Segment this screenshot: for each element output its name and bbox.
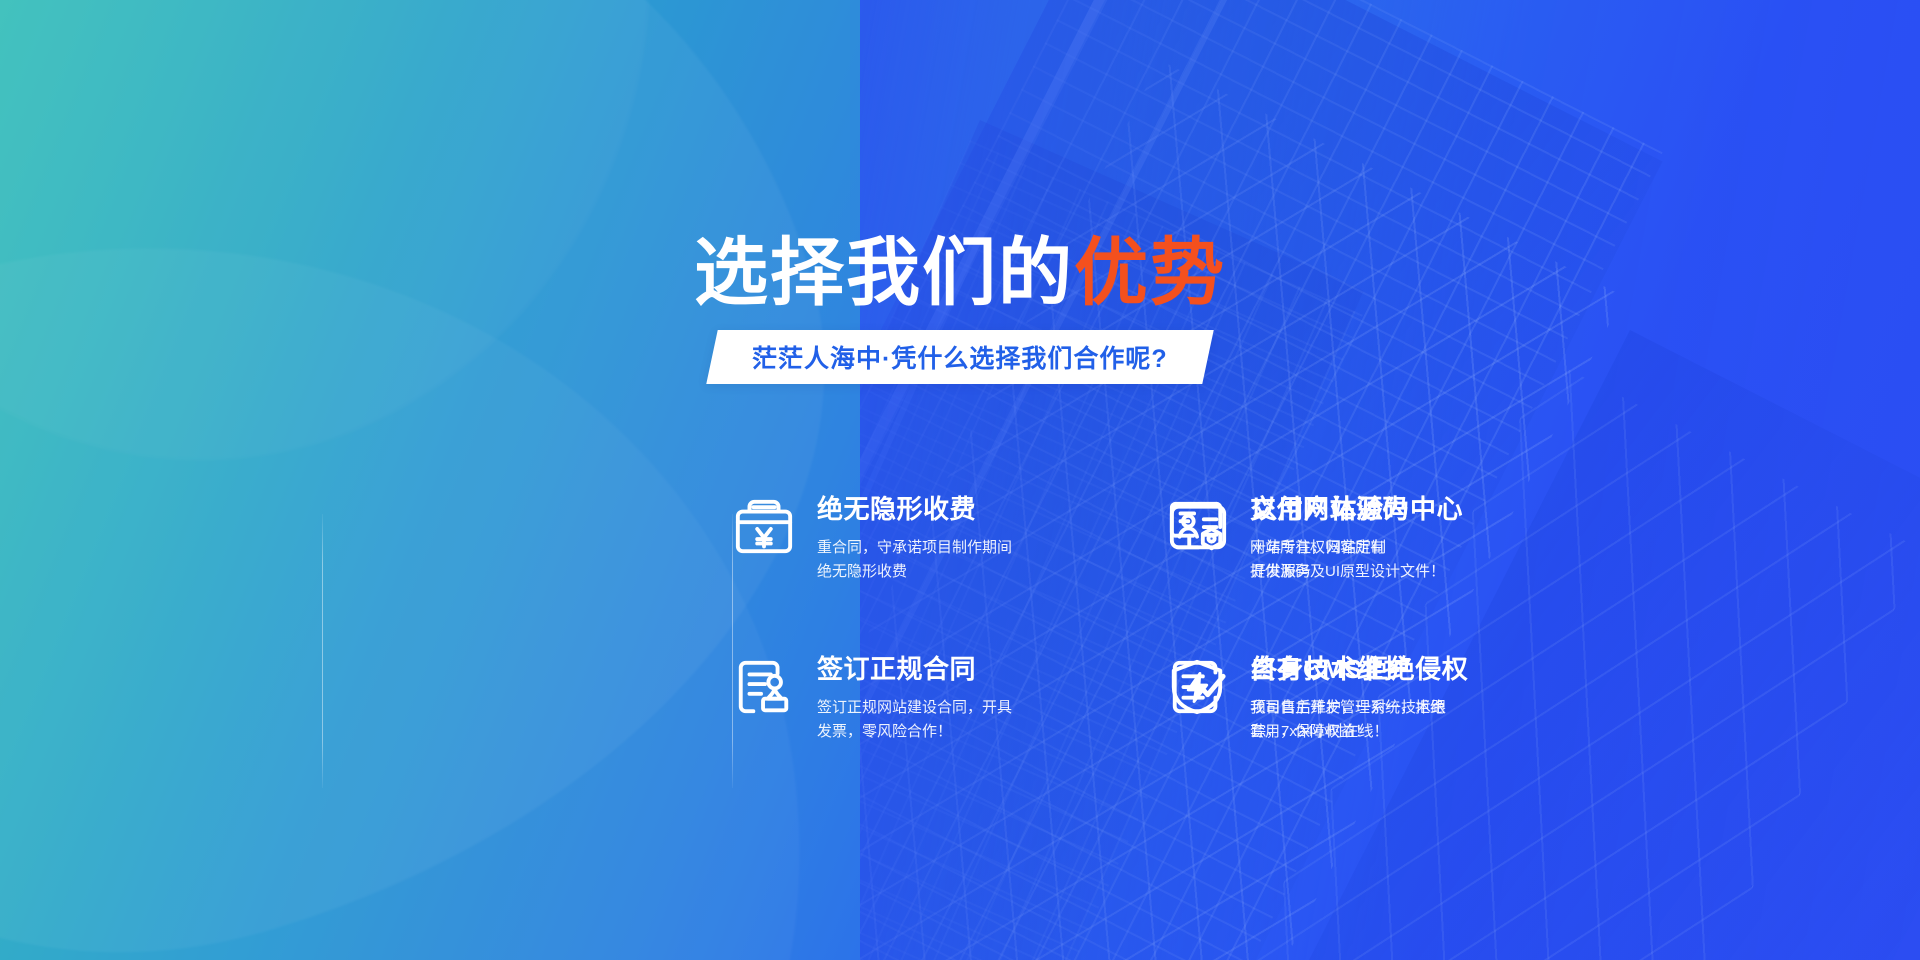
feature-desc-line: 绝无隐形收费 — [817, 560, 1012, 584]
feature-item-no-hidden-fees[interactable]: 绝无隐形收费 重合同，守承诺项目制作期间 绝无隐形收费 — [733, 492, 1166, 652]
heading-block: 选择我们的优势 茫茫人海中·凭什么选择我们合作呢? — [0, 236, 1920, 384]
feature-desc-line: 签订正规网站建设合同，开具 — [817, 696, 1012, 720]
feature-desc: 重合同，守承诺项目制作期间 绝无隐形收费 — [817, 536, 1012, 585]
page-title-main: 选择我们的 — [694, 231, 1074, 314]
page-title: 选择我们的优势 — [0, 236, 1920, 310]
feature-item-lifetime-maintenance[interactable]: 终身技术维护 项目售后维护，一对一技术跟 踪，7x24小时在线！ — [1167, 652, 1601, 812]
id-card-icon — [1167, 496, 1229, 558]
document-stamp-icon — [733, 656, 795, 718]
feature-desc: 项目售后维护，一对一技术跟 踪，7x24小时在线！ — [1251, 696, 1446, 745]
feature-desc-line: 踪，7x24小时在线！ — [1251, 720, 1446, 744]
column-divider-left — [322, 514, 323, 788]
feature-desc: 签订正规网站建设合同，开具 发票，零风险合作！ — [817, 696, 1012, 745]
feature-desc-line: 开发服务 — [1251, 560, 1463, 584]
feature-text: 以用户体验为中心 十年专注，网站定制 开发服务 — [1251, 492, 1463, 585]
feature-title: 以用户体验为中心 — [1251, 494, 1463, 525]
skyscraper-background-image — [860, 0, 1920, 960]
feature-text: 签订正规合同 签订正规网站建设合同，开具 发票，零风险合作！ — [817, 652, 1012, 745]
checklist-check-icon — [1167, 656, 1229, 718]
feature-title: 绝无隐形收费 — [817, 494, 1012, 525]
feature-title: 终身技术维护 — [1251, 654, 1446, 685]
promo-banner: 选择我们的优势 茫茫人海中·凭什么选择我们合作呢? — [0, 0, 1920, 960]
subtitle-ribbon-wrap: 茫茫人海中·凭什么选择我们合作呢? — [0, 330, 1920, 384]
background-wave-top — [0, 0, 650, 460]
page-title-accent: 优势 — [1074, 231, 1226, 314]
subtitle-text: 茫茫人海中·凭什么选择我们合作呢? — [752, 339, 1168, 375]
feature-desc-line: 项目售后维护，一对一技术跟 — [1251, 696, 1446, 720]
building-haze-overlay — [860, 0, 1920, 960]
feature-text: 终身技术维护 项目售后维护，一对一技术跟 踪，7x24小时在线！ — [1251, 652, 1446, 745]
briefcase-yuan-icon — [733, 496, 795, 558]
feature-desc-line: 重合同，守承诺项目制作期间 — [817, 536, 1012, 560]
feature-title: 签订正规合同 — [817, 654, 1012, 685]
feature-text: 绝无隐形收费 重合同，守承诺项目制作期间 绝无隐形收费 — [817, 492, 1012, 585]
feature-item-user-experience[interactable]: 以用户体验为中心 十年专注，网站定制 开发服务 — [1167, 492, 1601, 652]
background-wave-upper — [0, 0, 943, 960]
feature-desc-line: 发票，零风险合作！ — [817, 720, 1012, 744]
feature-desc: 十年专注，网站定制 开发服务 — [1251, 536, 1463, 585]
feature-desc-line: 十年专注，网站定制 — [1251, 536, 1463, 560]
subtitle-ribbon: 茫茫人海中·凭什么选择我们合作呢? — [706, 330, 1213, 384]
feature-item-formal-contract[interactable]: 签订正规合同 签订正规网站建设合同，开具 发票，零风险合作！ — [733, 652, 1166, 812]
feature-grid: 绝无隐形收费 重合同，守承诺项目制作期间 绝无隐形收费 — [322, 492, 1642, 812]
